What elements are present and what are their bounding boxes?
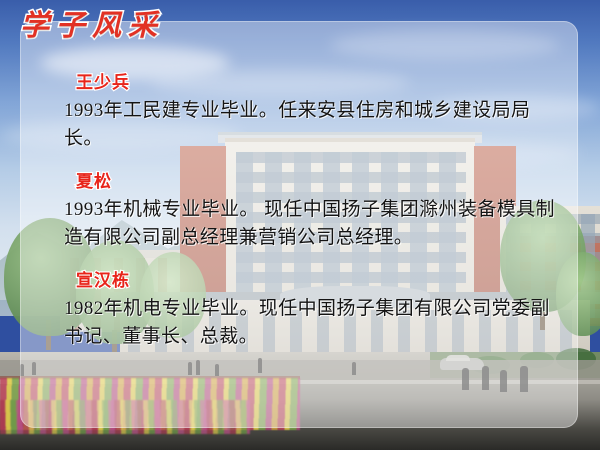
person-name: 王少兵 [76,72,564,94]
person-description: 1982年机电专业毕业。现任中国扬子集团有限公司党委副书记、董事长、总裁。 [64,295,564,350]
person-name: 夏松 [76,171,564,193]
entry-item: 宣汉栋 1982年机电专业毕业。现任中国扬子集团有限公司党委副书记、董事长、总裁… [64,270,564,350]
entry-item: 夏松 1993年机械专业毕业。 现任中国扬子集团滁州装备模具制造有限公司副总经理… [64,171,564,251]
entry-list: 王少兵 1993年工民建专业毕业。任来安县住房和城乡建设局局长。 夏松 1993… [64,72,564,351]
person-description: 1993年机械专业毕业。 现任中国扬子集团滁州装备模具制造有限公司副总经理兼营销… [64,196,564,251]
slide-title: 学子风采 [20,12,164,41]
person-description: 1993年工民建专业毕业。任来安县住房和城乡建设局局长。 [64,97,564,152]
person-name: 宣汉栋 [76,270,564,292]
entry-item: 王少兵 1993年工民建专业毕业。任来安县住房和城乡建设局局长。 [64,72,564,152]
presentation-slide: 学子风采 王少兵 1993年工民建专业毕业。任来安县住房和城乡建设局局长。 夏松… [0,0,600,450]
